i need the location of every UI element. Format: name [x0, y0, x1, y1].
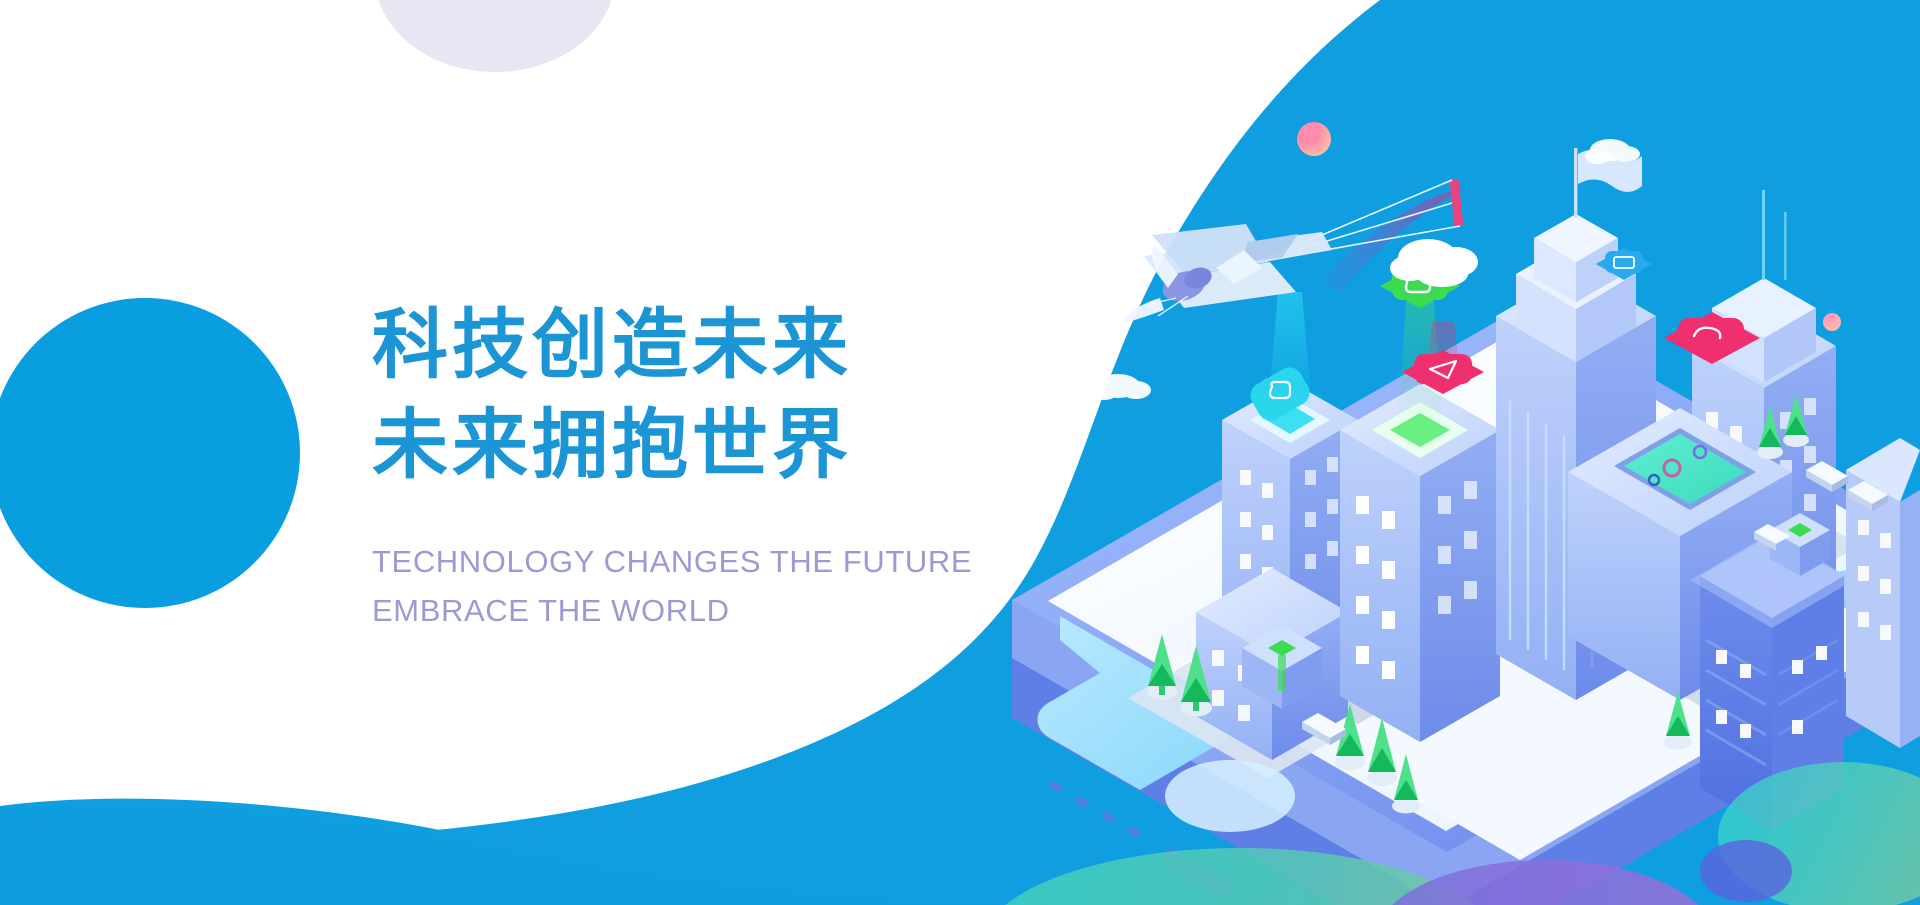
decor-ellipse-pale [1165, 760, 1295, 832]
decor-blob-purple-small [1700, 840, 1792, 902]
decor-circle-left [0, 298, 300, 608]
headline-line-2: 未来拥抱世界 [372, 395, 1132, 495]
subtitle-line-2: EMBRACE THE WORLD [372, 587, 1132, 636]
hero-copy: 科技创造未来 未来拥抱世界 TECHNOLOGY CHANGES THE FUT… [372, 295, 1132, 636]
decor-dot-pink-small [1823, 313, 1841, 331]
decor-sphere-pink [1297, 122, 1331, 156]
headline-line-1: 科技创造未来 [372, 295, 1132, 395]
hero-banner: 科技创造未来 未来拥抱世界 TECHNOLOGY CHANGES THE FUT… [0, 0, 1920, 905]
subtitle-block: TECHNOLOGY CHANGES THE FUTURE EMBRACE TH… [372, 538, 1132, 636]
subtitle-line-1: TECHNOLOGY CHANGES THE FUTURE [372, 538, 1132, 587]
